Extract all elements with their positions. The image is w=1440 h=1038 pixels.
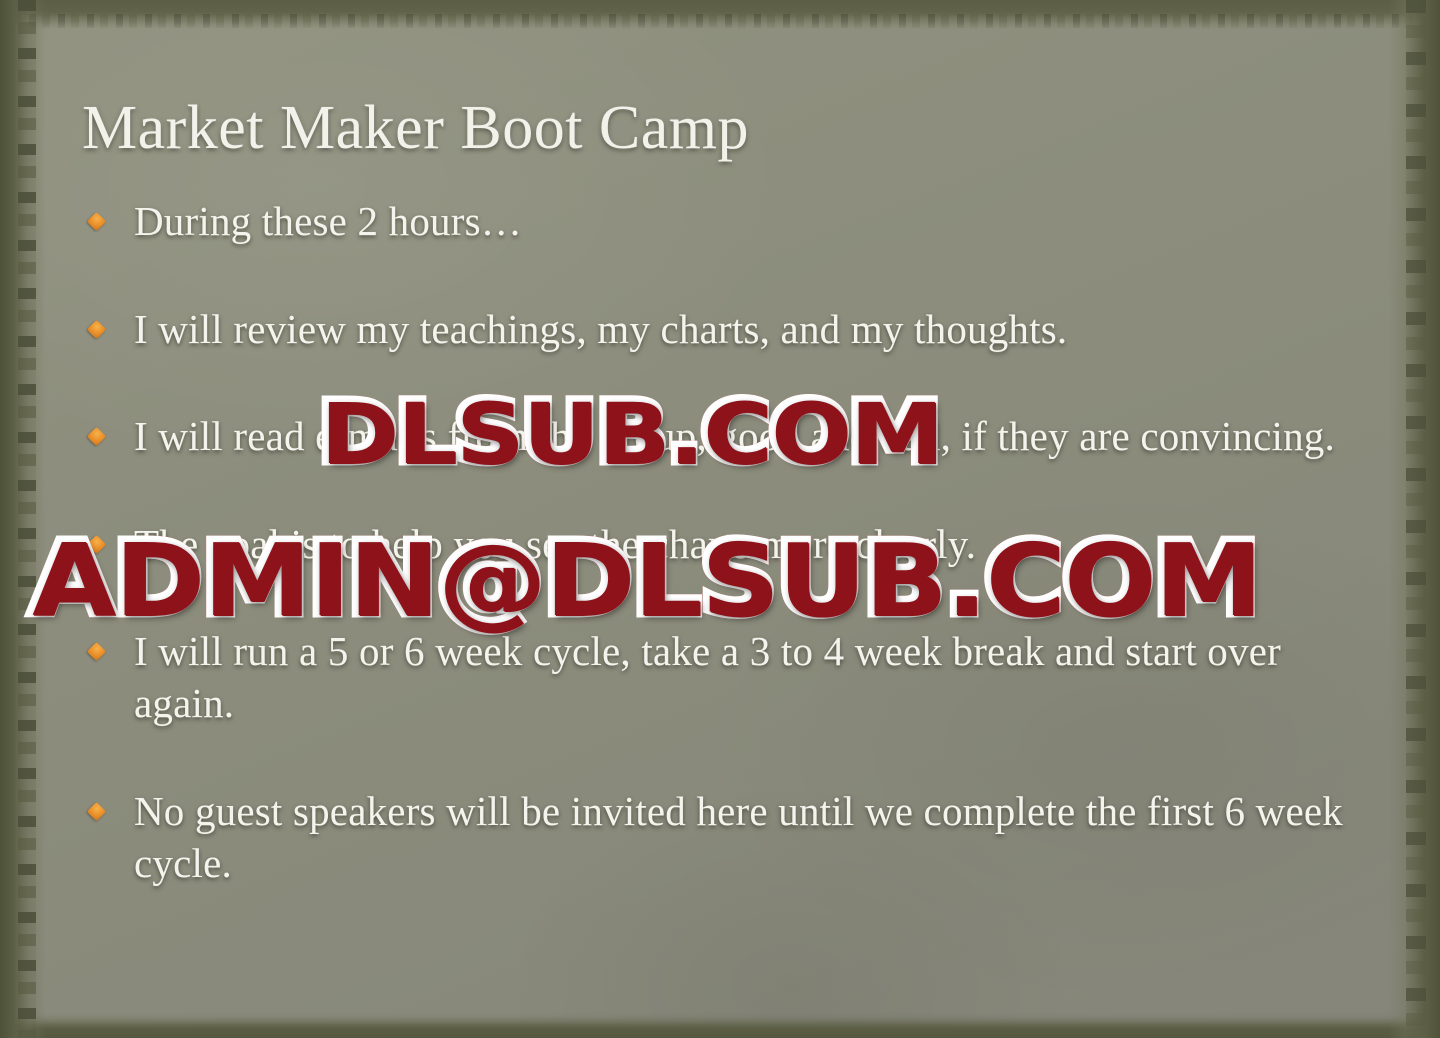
- bullet-item-label: No guest speakers will be invited here u…: [134, 785, 1370, 890]
- orange-diamond-bullet-icon: [87, 802, 106, 821]
- bullet-item-2: I will review my teachings, my charts, a…: [82, 303, 1370, 355]
- slide-content: Market Maker Boot Camp During these 2 ho…: [0, 0, 1440, 890]
- bullet-item-5: I will run a 5 or 6 week cycle, take a 3…: [82, 625, 1370, 730]
- slide-title: Market Maker Boot Camp: [82, 96, 1370, 161]
- slide-border-bottom: [0, 1012, 1440, 1038]
- bullet-item-4: The goal is to help you see the charts m…: [82, 518, 1370, 570]
- orange-diamond-bullet-icon: [87, 427, 106, 446]
- orange-diamond-bullet-icon: [87, 534, 106, 553]
- orange-diamond-bullet-icon: [87, 642, 106, 661]
- bullet-item-label: I will read e-mails from the group, good…: [134, 410, 1335, 462]
- presentation-slide: Market Maker Boot Camp During these 2 ho…: [0, 0, 1440, 1038]
- orange-diamond-bullet-icon: [87, 212, 106, 231]
- orange-diamond-bullet-icon: [87, 319, 106, 338]
- bullet-item-label: During these 2 hours…: [134, 195, 522, 247]
- bullet-item-3: I will read e-mails from the group, good…: [82, 410, 1370, 462]
- bullet-item-label: I will run a 5 or 6 week cycle, take a 3…: [134, 625, 1370, 730]
- bullet-item-label: The goal is to help you see the charts m…: [134, 518, 976, 570]
- bullet-item-6: No guest speakers will be invited here u…: [82, 785, 1370, 890]
- bullet-list: During these 2 hours… I will review my t…: [82, 195, 1370, 890]
- bullet-item-label: I will review my teachings, my charts, a…: [134, 303, 1067, 355]
- bullet-item-1: During these 2 hours…: [82, 195, 1370, 247]
